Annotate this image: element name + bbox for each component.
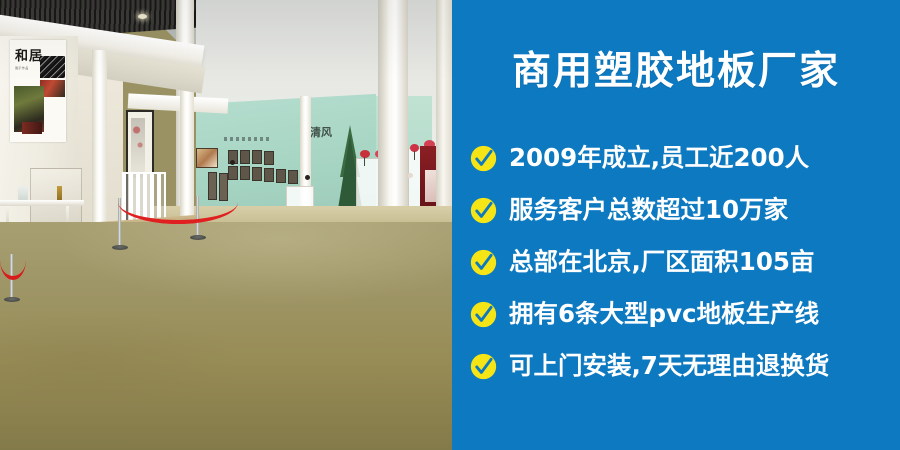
feature-item: 总部在北京,厂区面积105亩 <box>470 236 900 288</box>
framed-picture <box>276 169 286 183</box>
check-circle-icon <box>470 145 497 172</box>
person-head <box>305 175 310 180</box>
panel-title: 商用塑胶地板厂家 <box>452 52 900 91</box>
stanchion-base <box>4 297 20 302</box>
poster-calligraphy: 和居 <box>15 50 43 63</box>
check-circle-icon <box>470 249 497 276</box>
framed-picture <box>240 150 250 164</box>
framed-picture <box>240 166 250 180</box>
poster-subtitle: 展示作品 <box>15 66 29 70</box>
check-circle-icon <box>470 301 497 328</box>
framed-picture <box>264 168 274 182</box>
framed-picture <box>219 173 228 201</box>
stanchion-base <box>190 235 206 240</box>
feature-label: 2009年成立,员工近200人 <box>509 146 809 171</box>
feature-label: 拥有6条大型pvc地板生产线 <box>509 302 819 327</box>
feature-item: 可上门安装,7天无理由退换货 <box>470 340 900 392</box>
hanging-scroll-artwork <box>131 118 145 178</box>
feature-list: 2009年成立,员工近200人 服务客户总数超过10万家 总部在北京,厂区面积1… <box>470 132 900 392</box>
framed-picture <box>252 150 262 164</box>
check-circle-icon <box>470 197 497 224</box>
wall-painting <box>196 148 218 168</box>
showroom-photo: 清风 <box>0 0 452 450</box>
display-cabinet <box>30 168 82 226</box>
pvc-floor <box>0 222 452 450</box>
ceiling-spotlight-icon <box>138 14 147 19</box>
framed-picture <box>228 166 238 180</box>
feature-item: 拥有6条大型pvc地板生产线 <box>470 288 900 340</box>
flower-stem <box>364 157 365 166</box>
flower-stem <box>414 151 415 160</box>
stanchion-base <box>112 245 128 250</box>
check-circle-icon <box>470 353 497 380</box>
feature-item: 服务客户总数超过10万家 <box>470 184 900 236</box>
poster-photo-tile <box>40 56 65 78</box>
feature-label: 服务客户总数超过10万家 <box>509 198 788 223</box>
feature-label: 总部在北京,厂区面积105亩 <box>509 250 814 275</box>
exhibition-poster: 和居 展示作品 <box>10 40 66 142</box>
person-head <box>230 160 235 165</box>
framed-picture <box>208 172 217 200</box>
framed-picture <box>252 167 262 181</box>
feature-label: 可上门安装,7天无理由退换货 <box>509 354 829 379</box>
wall-signage-text <box>224 137 270 141</box>
white-display-table <box>0 200 84 206</box>
info-panel: 商用塑胶地板厂家 2009年成立,员工近200人 服务客户总数超过10万家 <box>452 0 900 450</box>
flower-bouquet <box>360 150 370 158</box>
framed-picture <box>264 151 274 165</box>
feature-item: 2009年成立,员工近200人 <box>470 132 900 184</box>
wall-calligraphy: 清风 <box>310 128 332 138</box>
poster-photo-tile <box>22 122 42 134</box>
booth-column <box>92 50 107 238</box>
framed-picture <box>288 170 298 184</box>
promo-banner: 清风 <box>0 0 900 450</box>
